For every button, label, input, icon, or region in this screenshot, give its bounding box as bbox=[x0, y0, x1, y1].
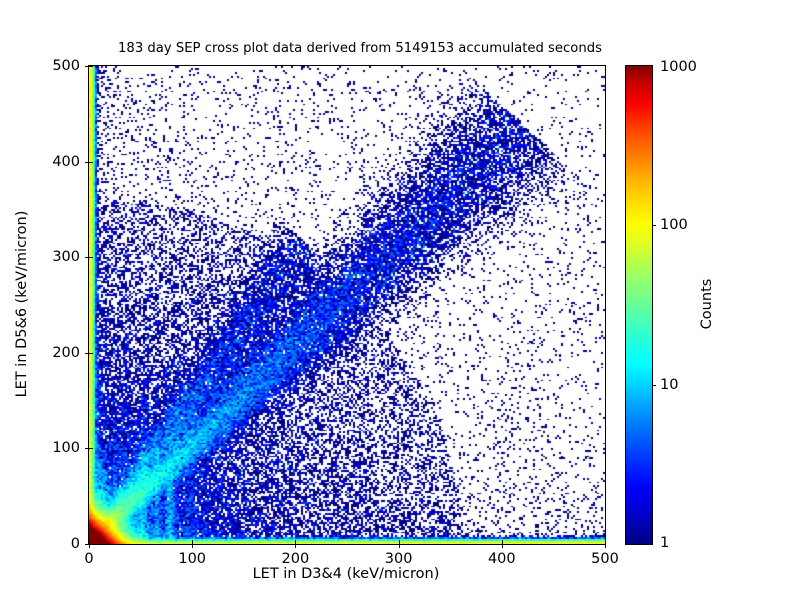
figure-canvas: 183 day SEP cross plot data derived from… bbox=[0, 0, 800, 600]
x-axis-tick-mark-inner bbox=[89, 540, 90, 544]
x-axis-tick-label: 0 bbox=[84, 551, 93, 567]
x-axis-tick-mark-inner bbox=[295, 540, 296, 544]
y-axis-tick-label: 400 bbox=[52, 154, 80, 170]
x-axis-tick-mark-inner bbox=[502, 540, 503, 544]
x-axis-tick-label: 500 bbox=[591, 551, 619, 567]
colorbar-tick-label: 100 bbox=[660, 217, 688, 233]
plot-title-line-1: 183 day SEP cross plot data derived from… bbox=[0, 40, 720, 57]
y-axis-label-text: LET in D5&6 (keV/micron) bbox=[14, 211, 30, 398]
colorbar-gradient bbox=[626, 66, 652, 544]
y-axis-tick-mark-inner bbox=[89, 66, 93, 67]
colorbar-tick-label: 10 bbox=[660, 377, 678, 393]
x-axis-tick-mark bbox=[295, 544, 296, 548]
colorbar-tick-label: 1000 bbox=[660, 59, 697, 75]
x-axis-tick-mark-inner bbox=[192, 540, 193, 544]
x-axis-tick-mark-inner bbox=[605, 540, 606, 544]
x-axis-tick-mark bbox=[605, 544, 606, 548]
y-axis-tick-label: 300 bbox=[52, 249, 80, 265]
y-axis-tick-label: 200 bbox=[52, 345, 80, 361]
x-axis-tick-label: 300 bbox=[385, 551, 413, 567]
colorbar-tick-mark bbox=[652, 225, 656, 226]
y-axis-tick-mark-inner bbox=[89, 257, 93, 258]
x-axis-tick-mark bbox=[192, 544, 193, 548]
x-axis-label: LET in D3&4 (keV/micron) bbox=[88, 566, 604, 582]
y-axis-tick-mark-inner bbox=[89, 353, 93, 354]
colorbar: 1101001000 bbox=[625, 65, 653, 545]
x-axis-tick-label: 200 bbox=[282, 551, 310, 567]
colorbar-label-text: Counts bbox=[699, 279, 715, 330]
x-axis-tick-label: 400 bbox=[488, 551, 516, 567]
x-axis-tick-mark-inner bbox=[399, 540, 400, 544]
x-axis-tick-mark bbox=[502, 544, 503, 548]
y-axis-tick-mark-inner bbox=[89, 162, 93, 163]
y-axis-tick-label: 100 bbox=[52, 440, 80, 456]
colorbar-tick-label: 1 bbox=[660, 535, 669, 551]
x-axis-tick-mark bbox=[89, 544, 90, 548]
plot-axes: 01002003004005000100200300400500 bbox=[88, 65, 606, 545]
x-axis-tick-mark bbox=[399, 544, 400, 548]
x-axis-tick-label: 100 bbox=[178, 551, 206, 567]
y-axis-tick-label: 500 bbox=[52, 58, 80, 74]
scatter-heatmap-canvas bbox=[89, 66, 605, 544]
colorbar-tick-mark bbox=[652, 385, 656, 386]
y-axis-tick-label: 0 bbox=[71, 536, 80, 552]
y-axis-tick-mark-inner bbox=[89, 448, 93, 449]
